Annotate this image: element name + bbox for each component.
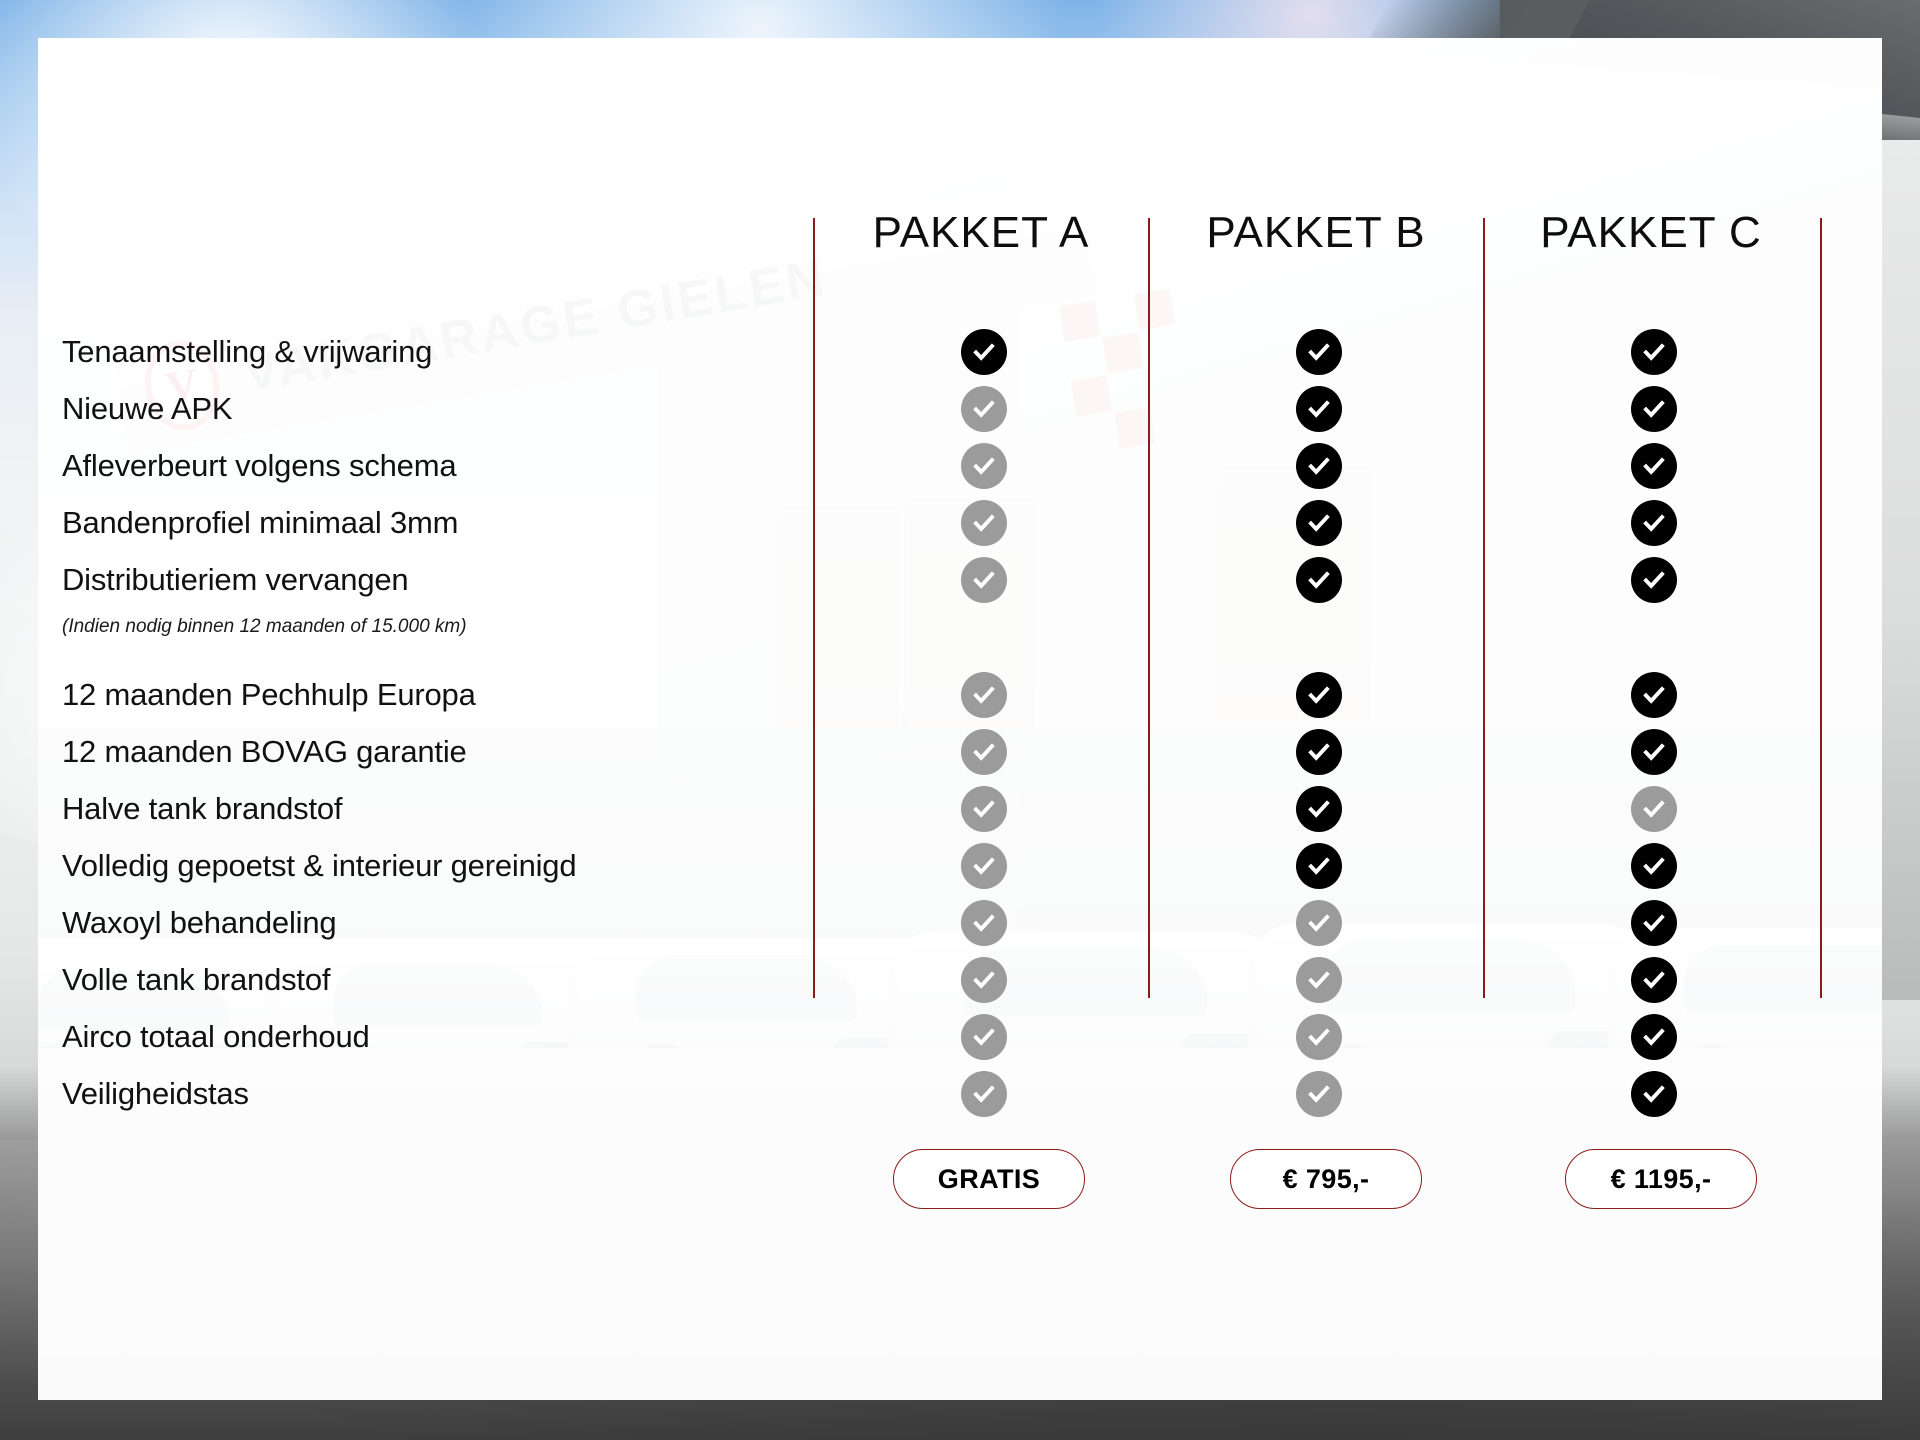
feature-label: Veiligheidstas	[62, 1070, 249, 1117]
feature-label: Waxoyl behandeling	[62, 899, 336, 946]
column-divider	[813, 218, 815, 998]
feature-label: Bandenprofiel minimaal 3mm	[62, 499, 458, 546]
check-icon-included	[1631, 672, 1677, 718]
feature-label: Airco totaal onderhoud	[62, 1013, 370, 1060]
check-icon-excluded	[1296, 1071, 1342, 1117]
feature-footnote: (Indien nodig binnen 12 maanden of 15.00…	[62, 616, 467, 638]
check-icon-included	[1631, 386, 1677, 432]
check-icon-included	[1631, 729, 1677, 775]
feature-label: Afleverbeurt volgens schema	[62, 442, 456, 489]
check-icon-included	[1296, 843, 1342, 889]
check-icon-included	[1631, 500, 1677, 546]
feature-label: Distributieriem vervangen	[62, 556, 408, 603]
feature-label: Volledig gepoetst & interieur gereinigd	[62, 842, 576, 889]
column-divider	[1820, 218, 1822, 998]
check-icon-included	[1296, 443, 1342, 489]
check-icon-included	[961, 329, 1007, 375]
check-icon-excluded	[961, 1014, 1007, 1060]
check-icon-excluded	[1296, 1014, 1342, 1060]
check-icon-included	[1296, 386, 1342, 432]
check-icon-excluded	[961, 957, 1007, 1003]
column-divider	[1483, 218, 1485, 998]
check-icon-included	[1631, 329, 1677, 375]
column-header-c: PAKKET C	[1501, 208, 1801, 258]
check-icon-included	[1296, 672, 1342, 718]
check-icon-included	[1296, 500, 1342, 546]
check-icon-excluded	[961, 843, 1007, 889]
check-icon-excluded	[961, 786, 1007, 832]
check-icon-excluded	[961, 557, 1007, 603]
content-card: VAKGARAGE GIELEN	[38, 38, 1882, 1400]
check-icon-included	[1296, 329, 1342, 375]
check-icon-excluded	[961, 900, 1007, 946]
check-icon-included	[1296, 786, 1342, 832]
feature-label: Halve tank brandstof	[62, 785, 342, 832]
page-root: VAKGARAGE GIELEN	[0, 0, 1920, 1440]
check-icon-included	[1631, 1014, 1677, 1060]
check-icon-excluded	[961, 729, 1007, 775]
price-button-a[interactable]: GRATIS	[893, 1149, 1085, 1209]
check-icon-excluded	[961, 443, 1007, 489]
price-button-b[interactable]: € 795,-	[1230, 1149, 1422, 1209]
feature-label: Volle tank brandstof	[62, 956, 330, 1003]
check-icon-included	[1631, 843, 1677, 889]
check-icon-included	[1631, 957, 1677, 1003]
feature-label: Tenaamstelling & vrijwaring	[62, 328, 432, 375]
check-icon-excluded	[961, 500, 1007, 546]
feature-label: Nieuwe APK	[62, 385, 232, 432]
check-icon-included	[1631, 900, 1677, 946]
check-icon-included	[1631, 557, 1677, 603]
check-icon-included	[1296, 729, 1342, 775]
column-header-b: PAKKET B	[1166, 208, 1466, 258]
column-divider	[1148, 218, 1150, 998]
package-comparison-table: PAKKET A PAKKET B PAKKET C Tenaamstellin…	[38, 38, 1882, 1400]
check-icon-included	[1631, 443, 1677, 489]
check-icon-included	[1296, 557, 1342, 603]
check-icon-excluded	[961, 386, 1007, 432]
price-button-c[interactable]: € 1195,-	[1565, 1149, 1757, 1209]
check-icon-excluded	[1296, 900, 1342, 946]
check-icon-excluded	[1296, 957, 1342, 1003]
check-icon-included	[1631, 1071, 1677, 1117]
column-header-a: PAKKET A	[831, 208, 1131, 258]
check-icon-excluded	[961, 1071, 1007, 1117]
feature-label: 12 maanden Pechhulp Europa	[62, 671, 476, 718]
check-icon-excluded	[1631, 786, 1677, 832]
feature-label: 12 maanden BOVAG garantie	[62, 728, 467, 775]
check-icon-excluded	[961, 672, 1007, 718]
